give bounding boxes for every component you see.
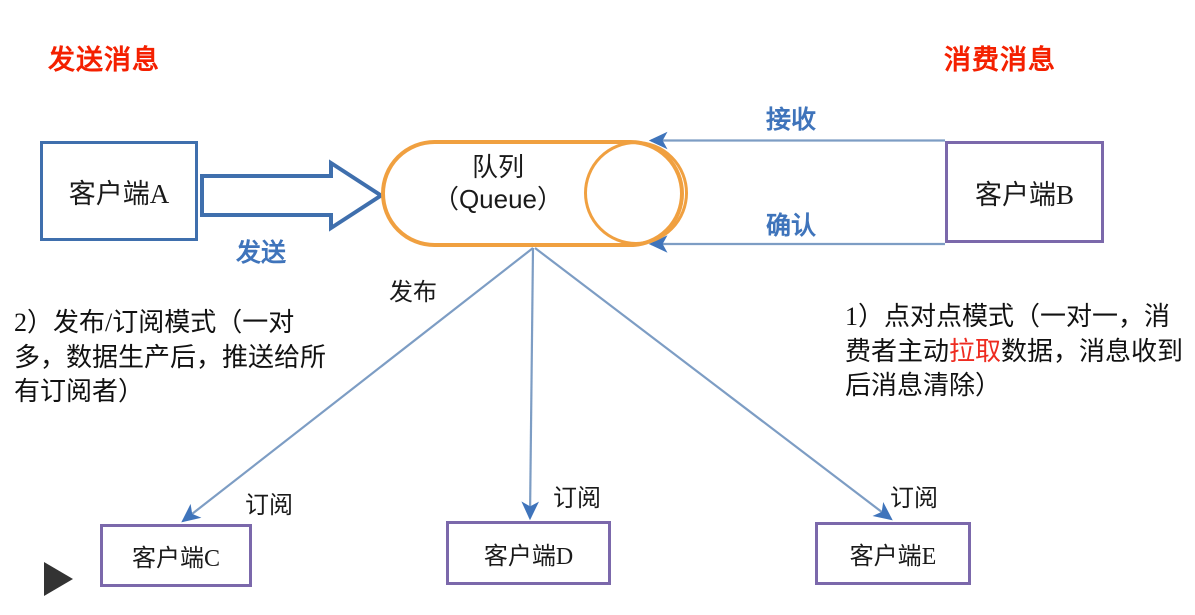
block-arrow-send [202, 163, 381, 228]
diagram-canvas: 发送消息 消费消息 客户端A 客户端B 客户端C 客户端D 客户端E 队列 （Q… [0, 0, 1195, 615]
edge-label-subscribe-c: 订阅 [245, 485, 293, 520]
node-client-c-label: 客户端C [132, 538, 220, 573]
node-client-e[interactable]: 客户端E [815, 522, 971, 585]
node-client-a-label: 客户端A [69, 172, 170, 211]
node-client-b[interactable]: 客户端B [945, 141, 1104, 243]
edge-label-receive: 接收 [766, 100, 816, 136]
description-pubsub: 2）发布/订阅模式（一对多，数据生产后，推送给所有订阅者） [14, 306, 344, 410]
edge-label-ack: 确认 [766, 206, 816, 242]
node-client-e-label: 客户端E [850, 536, 937, 571]
description-point-to-point: 1）点对点模式（一对一，消费者主动拉取数据，消息收到后消息清除） [845, 300, 1185, 404]
node-client-c[interactable]: 客户端C [100, 524, 252, 587]
queue-label-line1: 队列 [398, 152, 598, 184]
edge-label-subscribe-d: 订阅 [553, 478, 601, 513]
heading-send-message: 发送消息 [48, 38, 160, 77]
edge-label-send: 发送 [236, 233, 286, 269]
edge-label-subscribe-e: 订阅 [890, 478, 938, 513]
node-queue-label: 队列 （Queue） [398, 152, 598, 215]
heading-consume-message: 消费消息 [944, 38, 1056, 77]
node-client-d[interactable]: 客户端D [446, 521, 611, 585]
queue-end-circle [584, 141, 688, 245]
edge-label-publish: 发布 [389, 272, 437, 307]
play-triangle-cursor[interactable] [44, 562, 73, 596]
description-p2p-highlight: 拉取 [949, 337, 1001, 366]
queue-label-line2: （Queue） [398, 184, 598, 216]
node-client-b-label: 客户端B [975, 173, 1074, 212]
node-client-d-label: 客户端D [484, 536, 573, 571]
node-client-a[interactable]: 客户端A [40, 141, 198, 241]
arrow-publish-d [530, 248, 533, 518]
